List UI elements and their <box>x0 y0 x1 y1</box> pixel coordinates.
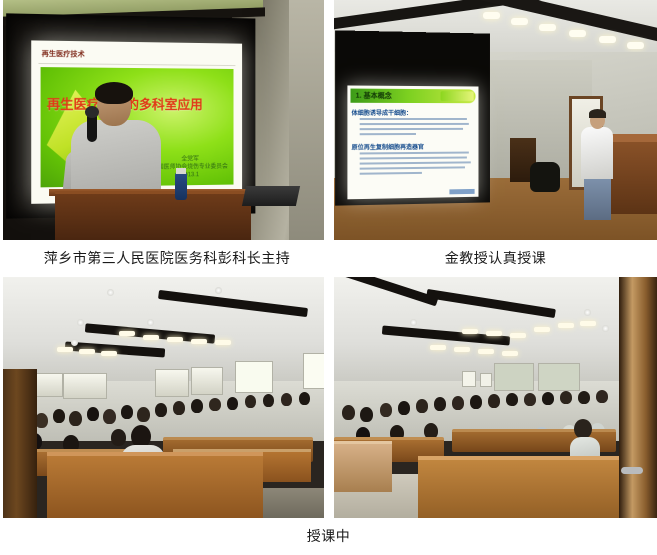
water-bottle <box>175 172 187 200</box>
photo-bottom-right[interactable] <box>334 277 657 518</box>
caption-row-top: 萍乡市第三人民医院医务科彭科长主持 金教授认真授课 <box>0 240 657 277</box>
desk-left <box>334 441 392 492</box>
speaker-hair <box>95 82 133 104</box>
scene-presenter-screen: 1. 基本概念 体细胞诱导成干细胞： 原位再生复制细胞再造器官 <box>334 0 657 240</box>
scene-lecture-hall-right <box>334 277 657 518</box>
bottle-cap <box>176 168 186 174</box>
presenter-hair <box>589 109 606 118</box>
slide-bullet-1: 体细胞诱导成干细胞： <box>352 108 413 117</box>
photo-row-top: 再生医疗技术 再生医疗技术的多科室应用 全党军 中国医师协会烧伤专业委员会 20… <box>0 0 657 240</box>
photo-row-bottom <box>0 277 657 518</box>
caption-row-bottom: 授课中 <box>0 518 657 555</box>
presenter-legs <box>584 176 611 220</box>
photo-top-left[interactable]: 再生医疗技术 再生医疗技术的多科室应用 全党军 中国医师协会烧伤专业委员会 20… <box>3 0 324 240</box>
photo-bottom-left[interactable] <box>3 277 324 518</box>
caption-bottom-row: 授课中 <box>0 522 657 550</box>
photo-report-page: 再生医疗技术 再生医疗技术的多科室应用 全党军 中国医师协会烧伤专业委员会 20… <box>0 0 657 550</box>
slide-byline-block: 全党军 中国医师协会烧伤专业委员会 2013.1 <box>152 155 228 180</box>
slide-title: 再生医疗技术的多科室应用 <box>47 92 228 118</box>
ceiling-lights <box>477 8 657 54</box>
desk-front <box>418 456 638 518</box>
slide-logo <box>449 189 474 194</box>
projection-frame: 1. 基本概念 体细胞诱导成干细胞： 原位再生复制细胞再造器官 <box>335 30 490 205</box>
projection-screen: 1. 基本概念 体细胞诱导成干细胞： 原位再生复制细胞再造器官 <box>347 85 478 199</box>
wood-column <box>3 369 37 518</box>
caption-photo-top-left: 萍乡市第三人民医院医务科彭科长主持 <box>0 244 324 272</box>
slide-header-bar: 再生医疗技术 <box>38 48 235 66</box>
laptop <box>242 186 300 206</box>
desk-front <box>47 452 263 518</box>
slide-bullet-2: 原位再生复制细胞再造器官 <box>352 142 424 152</box>
caption-photo-top-right: 金教授认真授课 <box>334 244 657 272</box>
door-frame[interactable] <box>619 277 657 518</box>
slide-paragraph-1 <box>360 118 471 138</box>
slide-paragraph-2 <box>360 152 471 178</box>
slide-date: 2013.1 <box>152 171 228 180</box>
podium <box>55 191 251 240</box>
presenter-torso <box>581 127 613 179</box>
slide-header-text: 1. 基本概念 <box>356 91 392 101</box>
photo-top-right[interactable]: 1. 基本概念 体细胞诱导成干细胞： 原位再生复制细胞再造器官 <box>334 0 657 240</box>
microphone-head <box>85 106 99 118</box>
slide-header-text: 再生医疗技术 <box>42 49 85 60</box>
scene-speaker-podium: 再生医疗技术 再生医疗技术的多科室应用 全党军 中国医师协会烧伤专业委员会 20… <box>3 0 324 240</box>
door-handle-icon[interactable] <box>621 467 643 474</box>
slide-header-bar: 1. 基本概念 <box>350 89 475 104</box>
scene-lecture-hall-left <box>3 277 324 518</box>
backpack <box>530 162 560 192</box>
slide-corner-graphic <box>441 91 474 101</box>
